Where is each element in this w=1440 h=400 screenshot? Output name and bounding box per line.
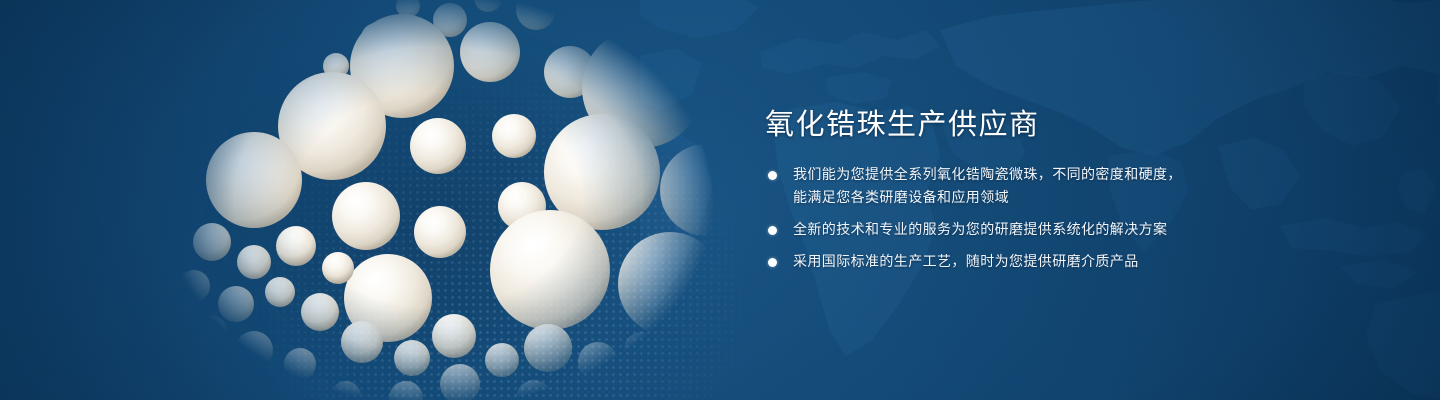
feature-list: 我们能为您提供全系列氧化锆陶瓷微珠，不同的密度和硬度， 能满足您各类研磨设备和应… [765, 164, 1325, 274]
list-item: 采用国际标准的生产工艺，随时为您提供研磨介质产品 [765, 251, 1325, 274]
bullet-dot-icon [768, 171, 777, 180]
list-item-line: 全新的技术和专业的服务为您的研磨提供系统化的解决方案 [793, 219, 1325, 242]
list-item-line: 采用国际标准的生产工艺，随时为您提供研磨介质产品 [793, 251, 1325, 274]
list-item: 全新的技术和专业的服务为您的研磨提供系统化的解决方案 [765, 219, 1325, 242]
page-title: 氧化锆珠生产供应商 [765, 108, 1325, 140]
bullet-dot-icon [768, 226, 777, 235]
list-item-line: 我们能为您提供全系列氧化锆陶瓷微珠，不同的密度和硬度， [793, 164, 1325, 187]
bullet-dot-icon [768, 258, 777, 267]
hero-banner: 氧化锆珠生产供应商 我们能为您提供全系列氧化锆陶瓷微珠，不同的密度和硬度， 能满… [0, 0, 1440, 400]
list-item-line: 能满足您各类研磨设备和应用领域 [793, 187, 1325, 210]
list-item: 我们能为您提供全系列氧化锆陶瓷微珠，不同的密度和硬度， 能满足您各类研磨设备和应… [765, 164, 1325, 210]
banner-copy: 氧化锆珠生产供应商 我们能为您提供全系列氧化锆陶瓷微珠，不同的密度和硬度， 能满… [765, 108, 1325, 274]
